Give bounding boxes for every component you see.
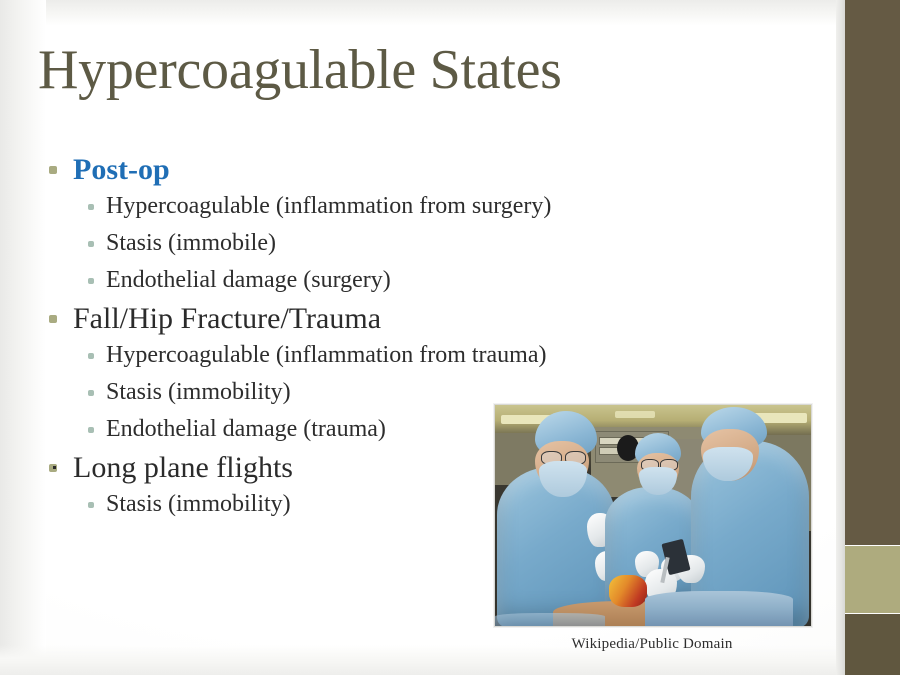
bullet-level2-item: Endothelial damage (surgery): [40, 264, 680, 297]
sub-bullet-dot-icon: [88, 390, 94, 396]
bullet-level2-label: Stasis (immobility): [106, 379, 291, 405]
sub-bullet-dot-icon: [88, 427, 94, 433]
bullet-level2-label: Stasis (immobility): [106, 491, 291, 517]
bullet-level1-label: Post-op: [73, 153, 170, 186]
bullet-level2-label: Hypercoagulable (inflammation from traum…: [106, 342, 547, 368]
sub-bullet-dot-icon: [88, 502, 94, 508]
bullet-level1-label: Fall/Hip Fracture/Trauma: [73, 302, 381, 335]
bullet-level2-label: Stasis (immobile): [106, 230, 276, 256]
surgery-photo: [494, 404, 812, 627]
bullet-level2-item: Stasis (immobile): [40, 227, 680, 260]
sub-bullet-dot-icon: [88, 241, 94, 247]
sub-bullet-dot-icon: [88, 353, 94, 359]
presentation-slide: Hypercoagulable States Post-op Hypercoag…: [0, 0, 900, 675]
bullet-level1-label: Long plane flights: [73, 451, 293, 484]
bullet-dot-icon: [49, 315, 57, 323]
photo-caption: Wikipedia/Public Domain: [494, 636, 810, 653]
sidebar-band-middle: [845, 546, 900, 613]
stray-period-artifact: [53, 466, 56, 469]
surgery-photo-image: [495, 405, 811, 626]
bullet-dot-icon: [49, 166, 57, 174]
sidebar-gap: [836, 0, 845, 675]
bullet-level2-label: Endothelial damage (surgery): [106, 267, 391, 293]
bullet-level2-label: Hypercoagulable (inflammation from surge…: [106, 193, 551, 219]
sidebar-band-bottom: [845, 614, 900, 675]
slide-background-top-gradient: [0, 0, 900, 26]
slide-title: Hypercoagulable States: [38, 40, 562, 100]
sub-bullet-dot-icon: [88, 278, 94, 284]
bullet-level2-item: Hypercoagulable (inflammation from surge…: [40, 190, 680, 223]
bullet-level2-item: Hypercoagulable (inflammation from traum…: [40, 339, 680, 372]
bullet-level1-fall-hip-fracture-trauma: Fall/Hip Fracture/Trauma: [40, 301, 680, 337]
sidebar-band-top: [845, 0, 900, 545]
bullet-level1-post-op: Post-op: [40, 152, 680, 188]
bullet-level2-label: Endothelial damage (trauma): [106, 416, 386, 442]
sub-bullet-dot-icon: [88, 204, 94, 210]
